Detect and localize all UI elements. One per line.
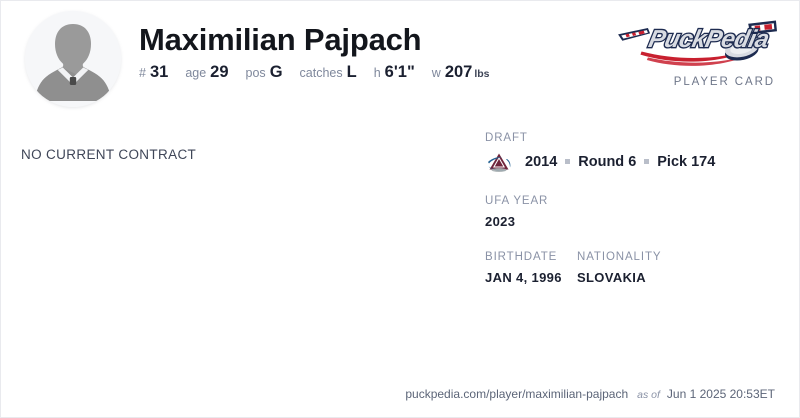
contract-column: NO CURRENT CONTRACT (21, 147, 441, 162)
birthdate-block: BIRTHDATE JAN 4, 1996 (485, 251, 577, 285)
avatar (25, 11, 121, 107)
bio-section: BIRTHDATE JAN 4, 1996 NATIONALITY SLOVAK… (485, 251, 785, 285)
draft-row: 2014 Round 6 Pick 174 (485, 151, 785, 173)
ufa-section: UFA YEAR 2023 (485, 195, 785, 229)
stat-label: # (139, 66, 146, 80)
draft-year: 2014 (525, 154, 557, 170)
draft-round: Round 6 (578, 154, 636, 170)
as-of-label: as of (637, 389, 660, 401)
player-stat-line: # 31 age 29 pos G catches L h 6'1" w 207 (139, 63, 490, 82)
draft-details: 2014 Round 6 Pick 174 (525, 154, 715, 170)
stat-value: 207 (445, 63, 473, 82)
ufa-value: 2023 (485, 214, 785, 229)
stat-number: # 31 (139, 63, 168, 82)
birthdate-label: BIRTHDATE (485, 251, 577, 263)
puckpedia-logo-icon: PuckPedia (617, 15, 777, 73)
card-header: Maximilian Pajpach # 31 age 29 pos G cat… (1, 1, 800, 111)
draft-section: DRAFT 2014 Round 6 (485, 132, 785, 173)
brand-block: PuckPedia PLAYER CARD (617, 15, 777, 88)
draft-label: DRAFT (485, 132, 785, 144)
stat-unit: lbs (474, 68, 489, 80)
colorado-avalanche-logo-icon (485, 151, 513, 173)
separator-icon (644, 159, 649, 164)
contract-status: NO CURRENT CONTRACT (21, 147, 441, 162)
draft-pick: Pick 174 (657, 154, 715, 170)
source-url[interactable]: puckpedia.com/player/maximilian-pajpach (405, 387, 628, 401)
brand-subtitle: PLAYER CARD (617, 76, 777, 88)
stat-label: h (374, 66, 381, 80)
birthdate-value: JAN 4, 1996 (485, 270, 577, 285)
nationality-label: NATIONALITY (577, 251, 785, 263)
stat-label: catches (300, 66, 343, 80)
page-title: Maximilian Pajpach (139, 22, 421, 58)
svg-text:PuckPedia: PuckPedia (646, 26, 772, 53)
ufa-label: UFA YEAR (485, 195, 785, 207)
separator-icon (565, 159, 570, 164)
nationality-value: SLOVAKIA (577, 270, 785, 285)
nationality-block: NATIONALITY SLOVAKIA (577, 251, 785, 285)
stat-catches: catches L (300, 63, 357, 82)
stat-value: G (270, 63, 283, 82)
stat-value: 6'1" (385, 63, 415, 82)
person-silhouette-icon (25, 11, 121, 107)
card-footer: puckpedia.com/player/maximilian-pajpach … (405, 387, 775, 401)
stat-label: age (185, 66, 206, 80)
stat-position: pos G (246, 63, 283, 82)
details-column: DRAFT 2014 Round 6 (485, 132, 785, 285)
stat-weight: w 207 lbs (432, 63, 490, 82)
stat-value: 29 (210, 63, 228, 82)
stat-value: 31 (150, 63, 168, 82)
stat-label: w (432, 66, 441, 80)
stat-label: pos (246, 66, 266, 80)
stat-value: L (347, 63, 357, 82)
stat-height: h 6'1" (374, 63, 415, 82)
player-card: Maximilian Pajpach # 31 age 29 pos G cat… (0, 0, 800, 418)
timestamp: Jun 1 2025 20:53ET (667, 387, 775, 401)
stat-age: age 29 (185, 63, 228, 82)
